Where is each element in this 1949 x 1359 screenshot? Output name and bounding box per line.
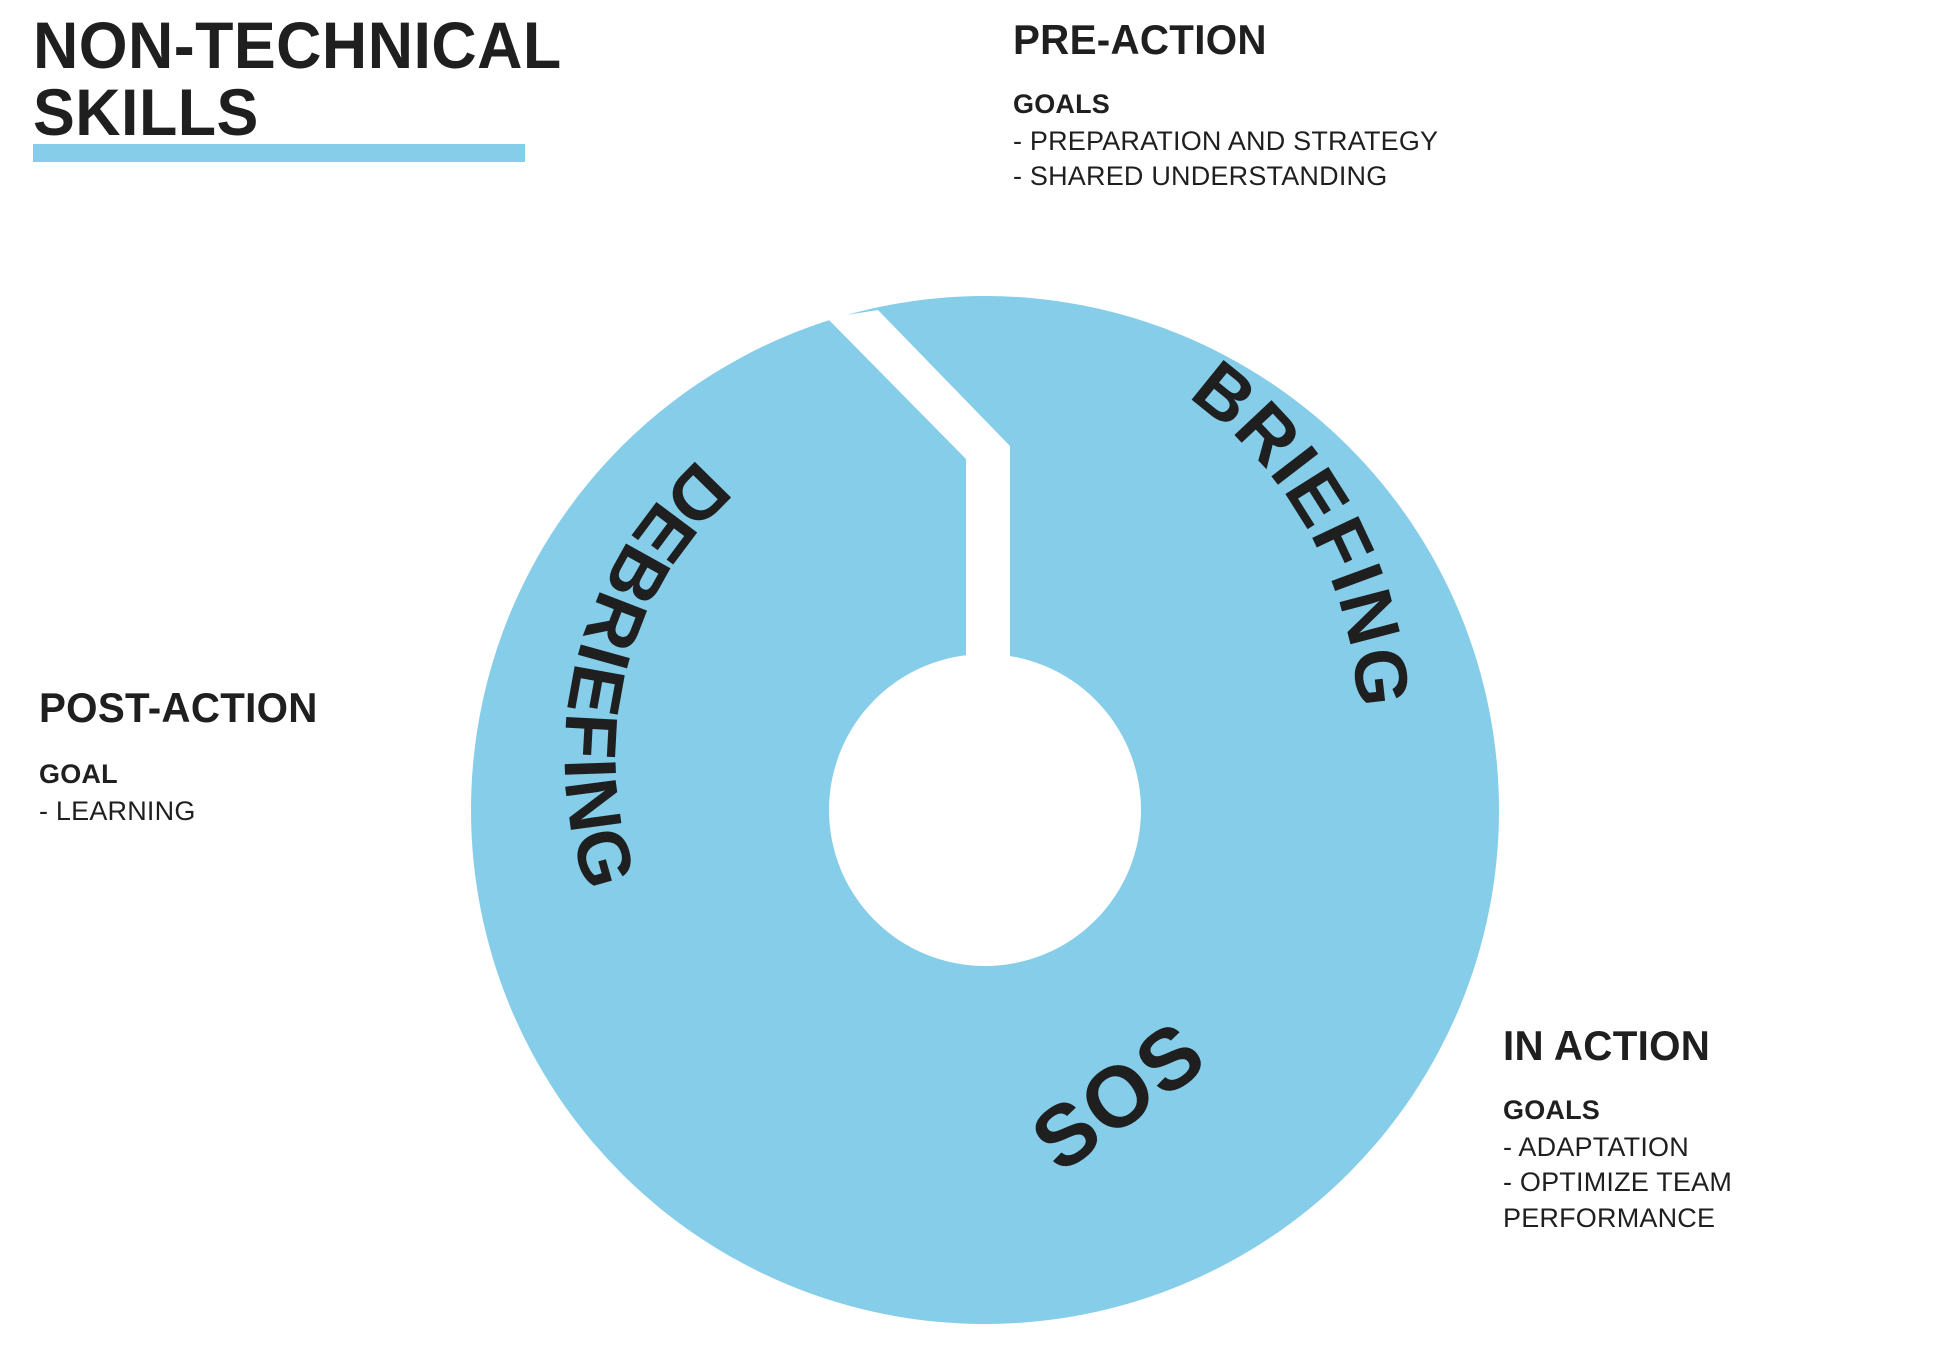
annotation-pre-action: PRE-ACTION GOALS - PREPARATION AND STRAT… [1013,18,1438,195]
annotation-goal-item: - ADAPTATION [1503,1130,1732,1165]
diagram-canvas: NON-TECHNICAL SKILLS BRIEFI [0,0,1949,1359]
annotation-goal-list-post-action: - LEARNING [39,794,329,829]
annotation-subheading-post-action: GOAL [39,758,329,792]
annotation-goal-item: - OPTIMIZE TEAM PERFORMANCE [1503,1165,1732,1236]
annotation-subheading-in-action: GOALS [1503,1094,1732,1128]
annotation-post-action: POST-ACTION GOAL - LEARNING [39,686,329,829]
annotation-goal-list-in-action: - ADAPTATION - OPTIMIZE TEAM PERFORMANCE [1503,1130,1732,1236]
annotation-goal-list-pre-action: - PREPARATION AND STRATEGY - SHARED UNDE… [1013,124,1438,195]
annotation-in-action: IN ACTION GOALS - ADAPTATION - OPTIMIZE … [1503,1024,1732,1236]
annotation-subheading-pre-action: GOALS [1013,88,1438,122]
annotation-goal-item: - LEARNING [39,794,329,829]
annotation-heading-post-action: POST-ACTION [39,686,318,730]
annotation-goal-item: - SHARED UNDERSTANDING [1013,159,1438,194]
annotation-heading-in-action: IN ACTION [1503,1024,1723,1068]
annotation-goal-item: - PREPARATION AND STRATEGY [1013,124,1438,159]
annotation-heading-pre-action: PRE-ACTION [1013,18,1421,62]
